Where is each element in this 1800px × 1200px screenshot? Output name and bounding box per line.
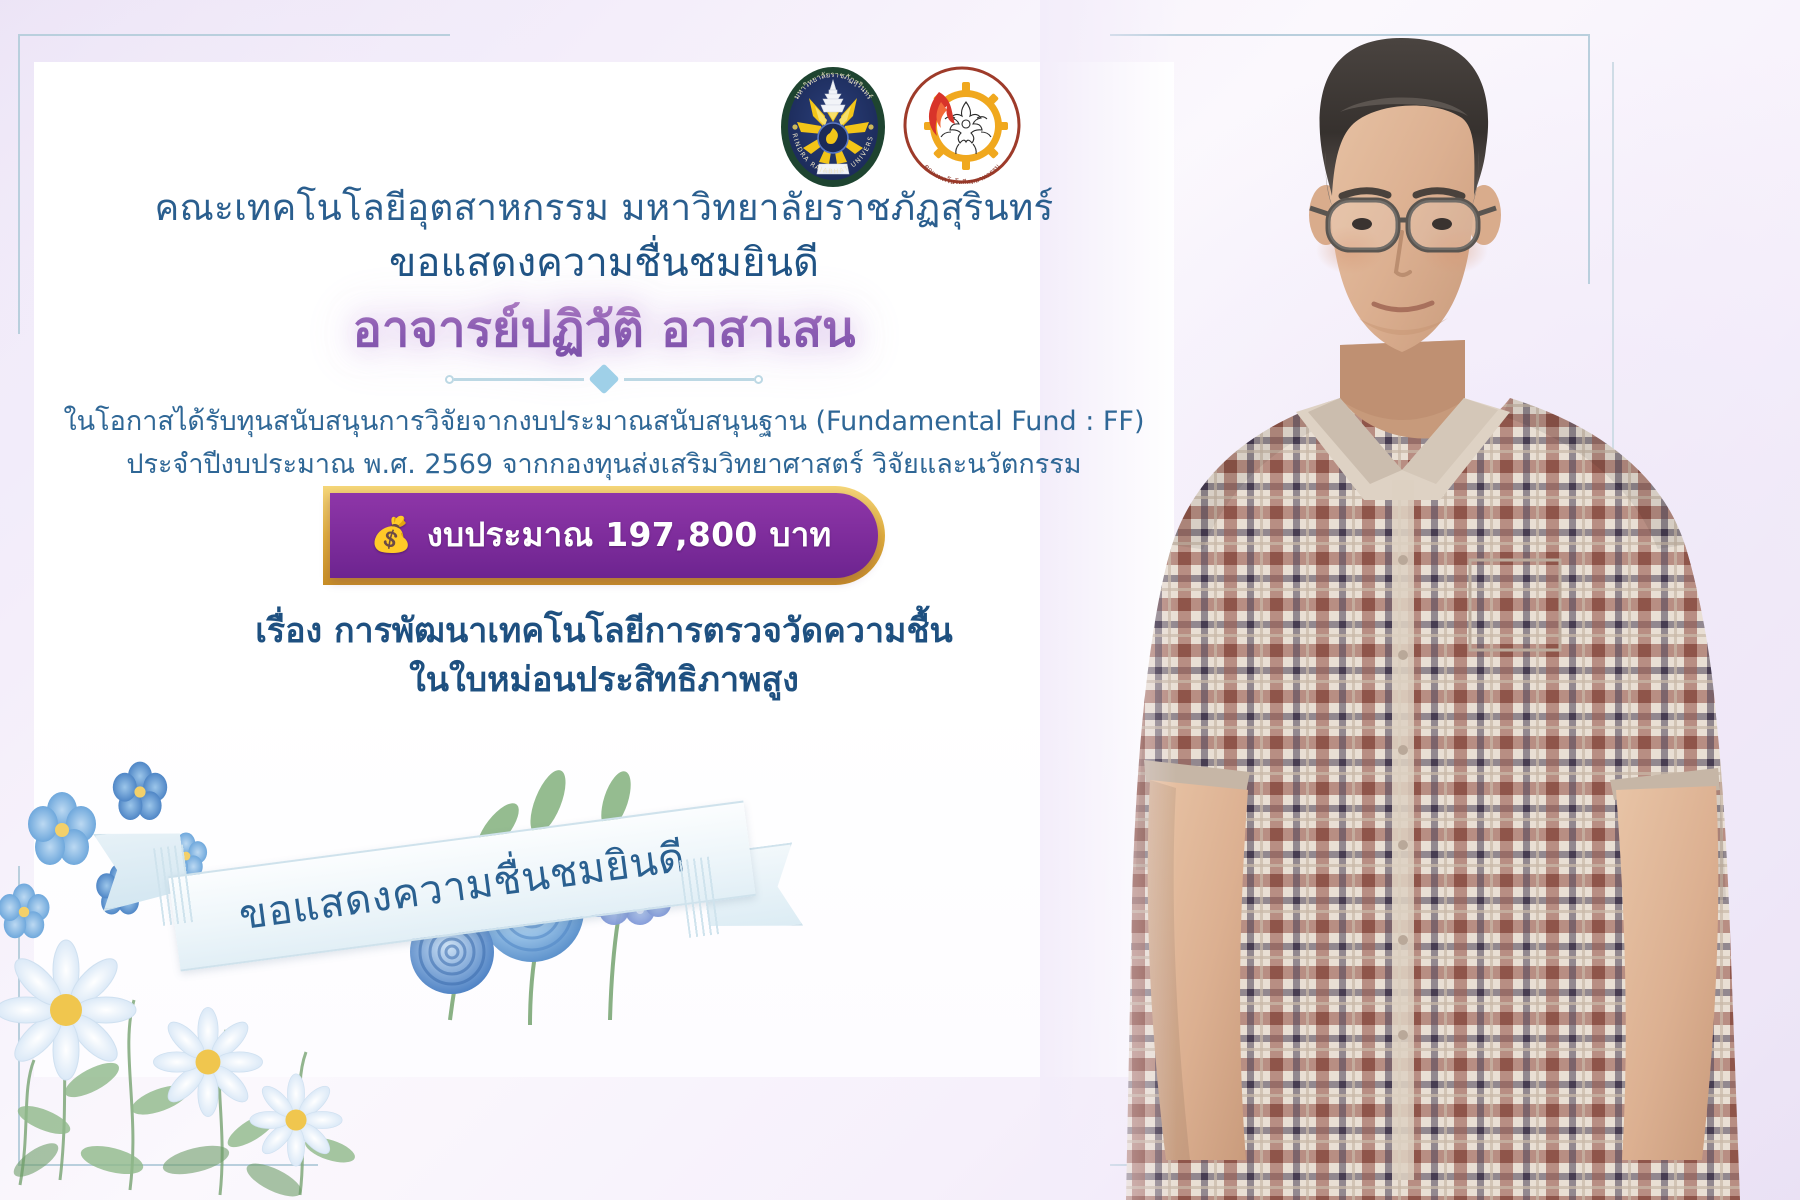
budget-amount-label: งบประมาณ 197,800 บาท <box>427 508 832 561</box>
ribbon-body: ขอแสดงความชื่นชมยินดี <box>168 801 756 972</box>
header-block: คณะเทคโนโลยีอุตสาหกรรม มหาวิทยาลัยราชภัฏ… <box>0 185 1208 289</box>
congratulation-line: ขอแสดงความชื่นชมยินดี <box>0 237 1208 289</box>
budget-banner-wrap: 💰 งบประมาณ 197,800 บาท <box>0 493 1208 578</box>
surindra-rajabhat-university-seal: มหาวิทยาลัยราชภัฏสุรินทร์ SURINDRA RAJAB… <box>779 66 887 193</box>
honoree-name: อาจารย์ปฏิวัติ อาสาเสน <box>0 297 1208 363</box>
description-block: ในโอกาสได้รับทุนสนับสนุนการวิจัยจากงบประ… <box>0 400 1208 486</box>
divider-dot-right <box>754 375 763 384</box>
research-title-block: เรื่อง การพัฒนาเทคโนโลยีการตรวจวัดความชื… <box>0 607 1208 706</box>
ribbon-banner: ขอแสดงความชื่นชมยินดี <box>150 790 790 1000</box>
diamond-icon <box>588 363 619 394</box>
logo-row: มหาวิทยาลัยราชภัฏสุรินทร์ SURINDRA RAJAB… <box>0 66 1800 193</box>
frame-line-bottom-left <box>18 1164 318 1166</box>
money-bag-icon: 💰 <box>370 518 412 552</box>
divider-line-left <box>454 378 584 381</box>
faculty-industrial-technology-seal: คณะเทคโนโลยีอุตสาหกรรม <box>903 66 1021 193</box>
frame-line-left-bottom <box>18 866 20 1166</box>
frame-line-top-left <box>18 34 450 36</box>
description-line-2: ประจำปีงบประมาณ พ.ศ. 2569 จากกองทุนส่งเส… <box>0 443 1208 486</box>
divider-dot-left <box>445 375 454 384</box>
divider-ornament <box>0 368 1208 390</box>
divider-line-right <box>624 378 754 381</box>
ribbon-text: ขอแสดงความชื่นชมยินดี <box>235 824 689 947</box>
description-line-1: ในโอกาสได้รับทุนสนับสนุนการวิจัยจากงบประ… <box>0 400 1208 443</box>
research-title-line-1: เรื่อง การพัฒนาเทคโนโลยีการตรวจวัดความชื… <box>0 607 1208 656</box>
budget-banner: 💰 งบประมาณ 197,800 บาท <box>330 493 877 578</box>
faculty-university-line: คณะเทคโนโลยีอุตสาหกรรม มหาวิทยาลัยราชภัฏ… <box>0 185 1208 231</box>
research-title-line-2: ในใบหม่อนประสิทธิภาพสูง <box>0 656 1208 705</box>
ribbon-stripes-left <box>153 844 197 926</box>
